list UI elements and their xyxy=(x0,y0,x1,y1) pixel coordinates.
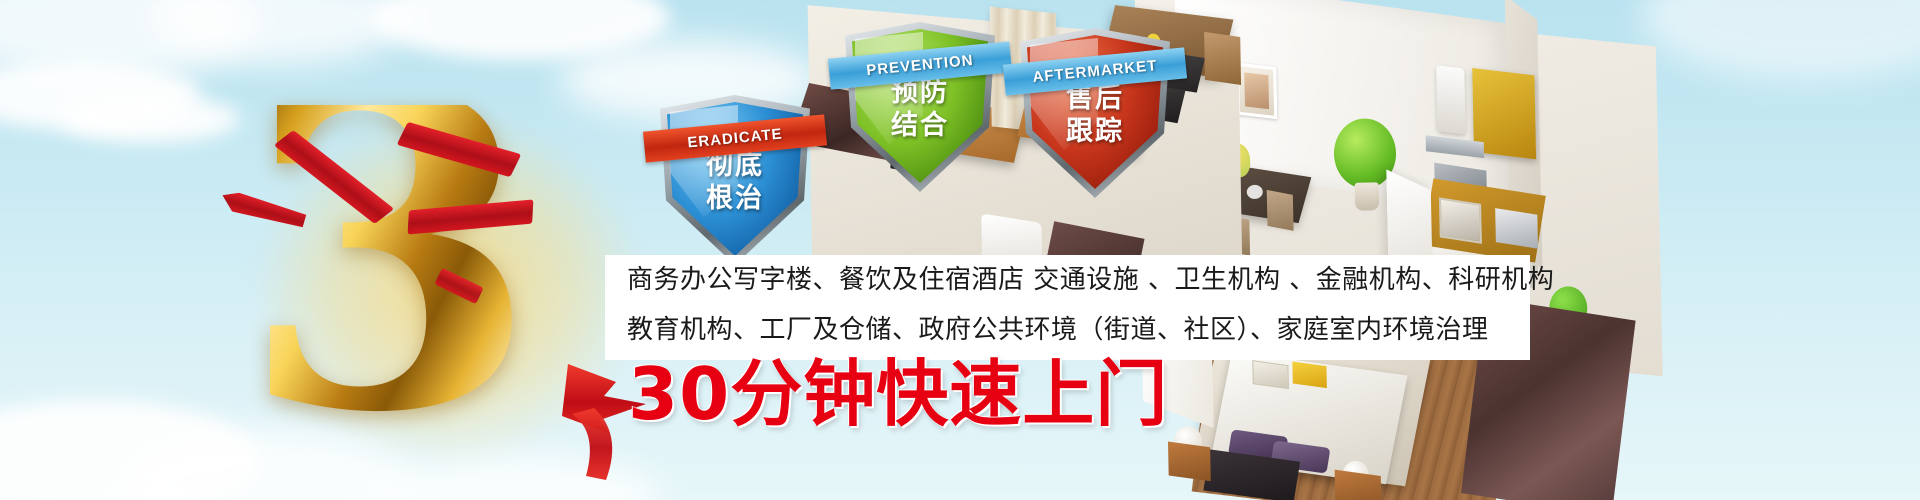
dining-chair xyxy=(1267,190,1294,231)
kitchen-fridge xyxy=(1436,65,1465,134)
shield-cn-line2: 根治 xyxy=(660,182,810,215)
nightstand xyxy=(1168,441,1211,481)
plant-pot xyxy=(1355,182,1380,210)
wall-picture-frame xyxy=(1236,62,1277,119)
service-scope-line-2: 教育机构、工厂及仓储、政府公共环境（街道、社区）、家庭室内环境治理 xyxy=(605,305,1530,355)
shield-cn-line2: 结合 xyxy=(845,109,995,142)
picture-art xyxy=(1244,72,1269,109)
kitchen-oven xyxy=(1439,197,1482,244)
kitchen-sink xyxy=(1495,208,1538,249)
bed-tray xyxy=(1252,360,1289,389)
headline-text: 30分钟快速上门 xyxy=(628,355,1168,433)
promo-banner: 3 彻底 根治 ERADICATE xyxy=(0,0,1920,500)
service-scope-line-1: 商务办公写字楼、餐饮及住宿酒店 交通设施 、卫生机构 、金融机构、科研机构 xyxy=(605,255,1530,305)
shield-cn-line2: 跟踪 xyxy=(1020,115,1170,148)
bed-throw-pillow xyxy=(1292,361,1327,388)
service-scope-panel: 商务办公写字楼、餐饮及住宿酒店 交通设施 、卫生机构 、金融机构、科研机构 教育… xyxy=(605,255,1530,360)
shield-badge-eradicate: 彻底 根治 ERADICATE xyxy=(660,95,810,265)
cloud-shape xyxy=(60,95,240,143)
armchair xyxy=(1204,32,1241,85)
nightstand xyxy=(1335,470,1382,500)
shield-badge-aftermarket: 售后 跟踪 AFTERMARKET xyxy=(1020,28,1170,198)
shield-badge-prevention: 预防 结合 PREVENTION xyxy=(845,22,995,192)
